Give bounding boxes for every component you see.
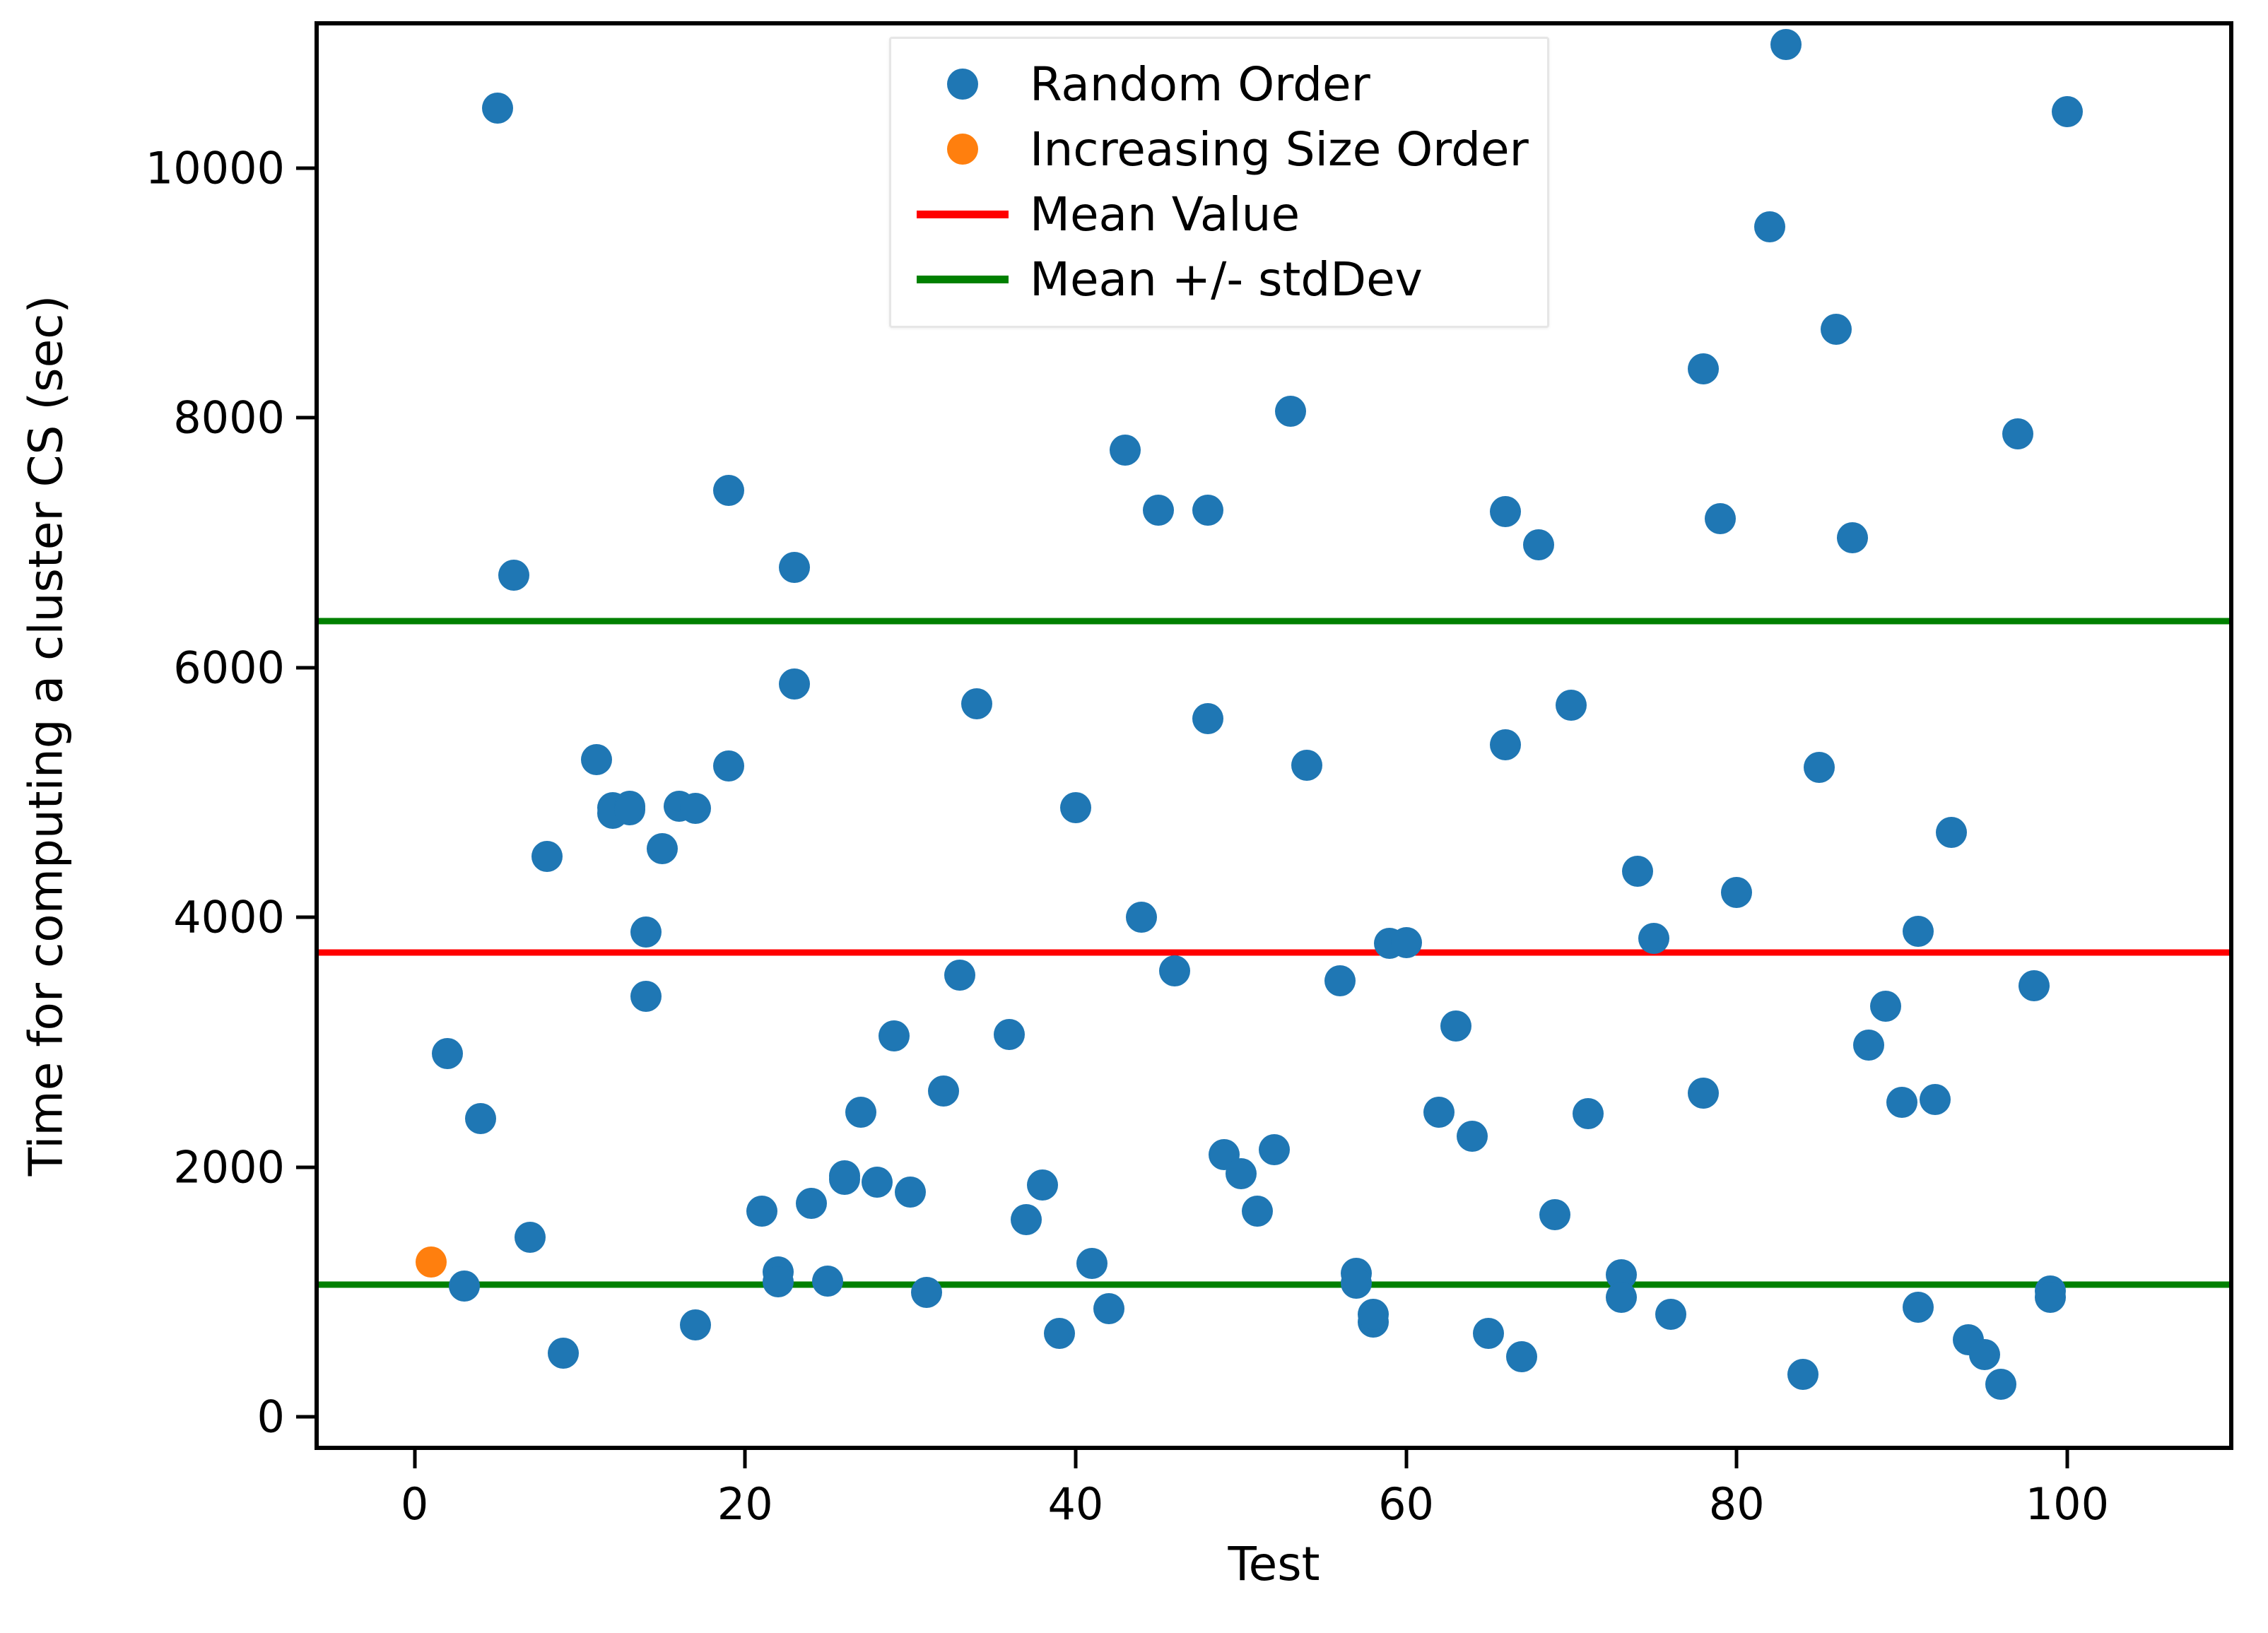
data-point (879, 1020, 910, 1051)
data-point (1655, 1299, 1686, 1330)
data-point (2035, 1282, 2066, 1313)
y-axis-tick (296, 916, 315, 919)
x-axis-label: Test (315, 1537, 2233, 1591)
data-point (1936, 817, 1967, 848)
data-point (895, 1177, 926, 1208)
data-point (416, 1246, 447, 1278)
data-point (1341, 1268, 1372, 1299)
x-axis-tick-label: 100 (2026, 1478, 2109, 1530)
data-point (1490, 496, 1521, 527)
data-point (1837, 522, 1868, 553)
x-axis-tick (1735, 1450, 1739, 1468)
data-point (2019, 970, 2050, 1001)
data-point (1688, 353, 1719, 384)
x-axis-tick-label: 80 (1709, 1478, 1765, 1530)
data-point (1606, 1282, 1637, 1313)
data-point (1804, 752, 1835, 783)
y-axis-tick (296, 1165, 315, 1169)
data-point (1027, 1169, 1058, 1201)
reference-line-mean-value (319, 949, 2229, 955)
y-axis-tick (296, 166, 315, 170)
data-point (1539, 1199, 1570, 1230)
data-point (614, 794, 645, 825)
data-point (994, 1019, 1025, 1050)
legend-item[interactable]: Mean +/- stdDev (910, 247, 1529, 312)
y-axis-tick-label: 8000 (173, 392, 285, 444)
reference-line-mean-stddev (319, 618, 2229, 625)
x-axis-tick (2065, 1450, 2069, 1468)
y-axis-tick-label: 10000 (146, 142, 285, 194)
y-axis-tick-label: 4000 (173, 892, 285, 943)
data-point (1159, 955, 1190, 986)
data-point (1573, 1098, 1604, 1129)
data-point (1886, 1087, 1917, 1118)
data-point (1259, 1134, 1290, 1165)
legend-swatch (917, 211, 1009, 218)
data-point (763, 1266, 794, 1297)
legend-item[interactable]: Increasing Size Order (910, 117, 1529, 182)
legend-line-icon (910, 276, 1016, 283)
x-axis-tick-label: 60 (1378, 1478, 1434, 1530)
y-axis-tick (296, 416, 315, 420)
data-point (812, 1266, 843, 1297)
data-point (1638, 923, 1669, 954)
data-point (1391, 927, 1422, 958)
data-point (1903, 916, 1934, 947)
x-axis-tick (744, 1450, 747, 1468)
data-point (1011, 1204, 1042, 1235)
data-point (680, 793, 711, 824)
legend-item-label: Increasing Size Order (1016, 122, 1529, 177)
data-point (1291, 750, 1322, 781)
data-point (630, 981, 662, 1012)
data-point (2052, 96, 2083, 127)
data-point (515, 1222, 546, 1253)
legend-swatch (917, 276, 1009, 283)
y-axis-tick (296, 666, 315, 669)
y-axis-tick-label: 6000 (173, 642, 285, 693)
data-point (713, 475, 744, 506)
legend-item-label: Random Order (1016, 57, 1370, 112)
data-point (1969, 1339, 2000, 1370)
data-point (1473, 1318, 1504, 1349)
data-point (796, 1188, 827, 1219)
x-axis-tick-label: 20 (717, 1478, 773, 1530)
data-point (746, 1196, 777, 1227)
data-point (961, 688, 992, 719)
data-point (1754, 211, 1785, 242)
data-point (1440, 1010, 1471, 1042)
data-point (680, 1309, 711, 1340)
data-point (432, 1038, 463, 1069)
data-point (1226, 1158, 1257, 1189)
data-point (482, 93, 513, 124)
data-point (1192, 495, 1223, 526)
legend-dot-icon (910, 69, 1016, 100)
data-point (779, 552, 810, 583)
data-point (845, 1097, 876, 1128)
y-axis: 0200040006000800010000 (0, 21, 315, 1450)
data-point (449, 1271, 480, 1302)
y-axis-tick (296, 1415, 315, 1419)
data-point (1920, 1084, 1951, 1115)
legend-line-icon (910, 211, 1016, 218)
data-point (1110, 435, 1141, 466)
data-point (1060, 792, 1091, 823)
data-point (1770, 29, 1802, 60)
y-axis-tick-label: 0 (257, 1391, 285, 1443)
data-point (548, 1338, 579, 1369)
legend-swatch (947, 69, 978, 100)
legend-item[interactable]: Random Order (910, 52, 1529, 117)
legend-item-label: Mean +/- stdDev (1016, 252, 1423, 307)
data-point (1324, 965, 1356, 996)
data-point (713, 750, 744, 782)
data-point (1787, 1359, 1818, 1390)
data-point (1093, 1293, 1124, 1324)
x-axis-tick (1074, 1450, 1077, 1468)
data-point (1044, 1318, 1075, 1349)
data-point (928, 1075, 959, 1107)
x-axis-tick (413, 1450, 416, 1468)
data-point (1126, 902, 1157, 933)
data-point (1721, 877, 1752, 908)
reference-line-mean-stddev (319, 1281, 2229, 1287)
data-point (1423, 1097, 1455, 1128)
data-point (1523, 529, 1554, 560)
chart-legend: Random OrderIncreasing Size OrderMean Va… (889, 37, 1549, 328)
data-point (1242, 1196, 1273, 1227)
data-point (2002, 418, 2033, 449)
x-axis-tick-label: 0 (401, 1478, 428, 1530)
data-point (1853, 1030, 1884, 1061)
legend-swatch (947, 134, 978, 165)
data-point (1143, 495, 1174, 526)
data-point (944, 960, 975, 991)
data-point (630, 916, 662, 948)
legend-dot-icon (910, 134, 1016, 165)
data-point (498, 560, 529, 591)
data-point (1903, 1292, 1934, 1323)
data-point (1192, 703, 1223, 734)
data-point (829, 1164, 860, 1195)
data-point (911, 1277, 942, 1308)
data-point (862, 1167, 893, 1198)
data-point (1556, 690, 1587, 721)
x-axis-tick-label: 40 (1047, 1478, 1103, 1530)
data-point (1490, 729, 1521, 760)
x-axis-tick (1404, 1450, 1408, 1468)
data-point (1870, 991, 1901, 1022)
data-point (1688, 1078, 1719, 1109)
data-point (1506, 1341, 1537, 1372)
data-point (581, 744, 612, 775)
data-point (531, 841, 563, 872)
y-axis-tick-label: 2000 (173, 1141, 285, 1193)
data-point (1821, 314, 1852, 345)
figure-canvas: Time for computing a cluster CS (sec) 02… (0, 0, 2268, 1633)
data-point (1705, 503, 1736, 534)
data-point (779, 668, 810, 700)
data-point (1985, 1369, 2016, 1400)
data-point (1275, 396, 1306, 427)
legend-item[interactable]: Mean Value (910, 182, 1529, 247)
data-point (465, 1103, 496, 1134)
data-point (1622, 856, 1653, 887)
legend-item-label: Mean Value (1016, 187, 1300, 242)
data-point (1457, 1121, 1488, 1152)
data-point (1076, 1248, 1107, 1279)
data-point (1358, 1299, 1389, 1330)
data-point (647, 833, 678, 864)
